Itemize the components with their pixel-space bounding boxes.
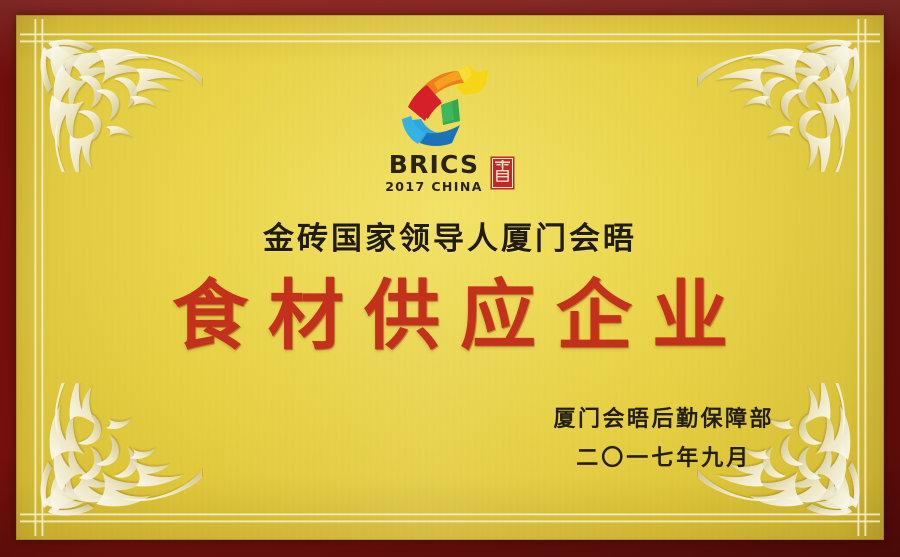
issue-date: 二〇一七年九月 [553, 448, 774, 470]
brics-wordmark-row: BRICS 2017 CHINA [385, 152, 515, 194]
summit-subtitle: 金砖国家领导人厦门会晤 [263, 224, 637, 255]
plaque-footer: 厦门会晤后勤保障部 二〇一七年九月 [553, 409, 774, 470]
award-title: 食材供应企业 [152, 278, 748, 354]
brics-subline-text: 2017 CHINA [385, 181, 483, 194]
china-seal-icon [490, 156, 515, 190]
plaque-gold-face: BRICS 2017 CHINA [16, 15, 884, 540]
brics-wordmark-text: BRICS [389, 152, 479, 177]
brics-emblem-icon [394, 63, 506, 149]
brics-wordmark: BRICS 2017 CHINA [385, 152, 483, 194]
issuing-organization: 厦门会晤后勤保障部 [553, 409, 774, 431]
brics-emblem-block: BRICS 2017 CHINA [385, 63, 515, 194]
award-plaque-image: BRICS 2017 CHINA [0, 0, 900, 557]
